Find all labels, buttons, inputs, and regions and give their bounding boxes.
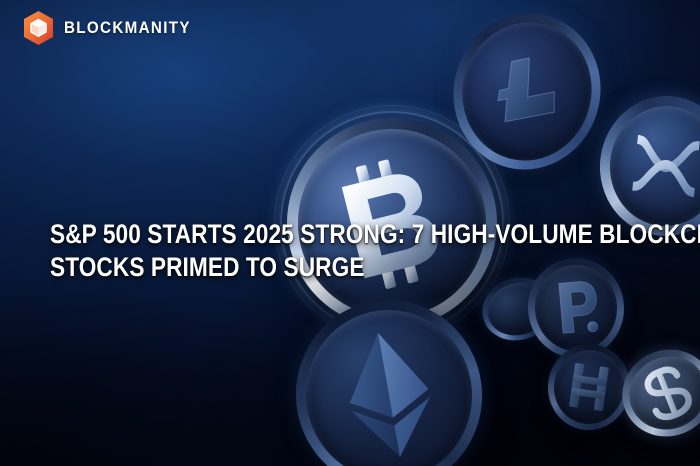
article-hero-banner: BLOCKMANITY S&P 500 STARTS 2025 STRONG: … [0,0,700,466]
brand-name-text: BLOCKMANITY [64,20,191,37]
headline-line-2: STOCKS PRIMED TO SURGE [50,251,563,284]
hexagon-cube-icon [22,10,55,46]
brand-logo[interactable]: BLOCKMANITY [22,10,202,46]
page-title: S&P 500 STARTS 2025 STRONG: 7 HIGH-VOLUM… [50,218,650,284]
headline-line-1: S&P 500 STARTS 2025 STRONG: 7 HIGH-VOLUM… [50,218,563,251]
